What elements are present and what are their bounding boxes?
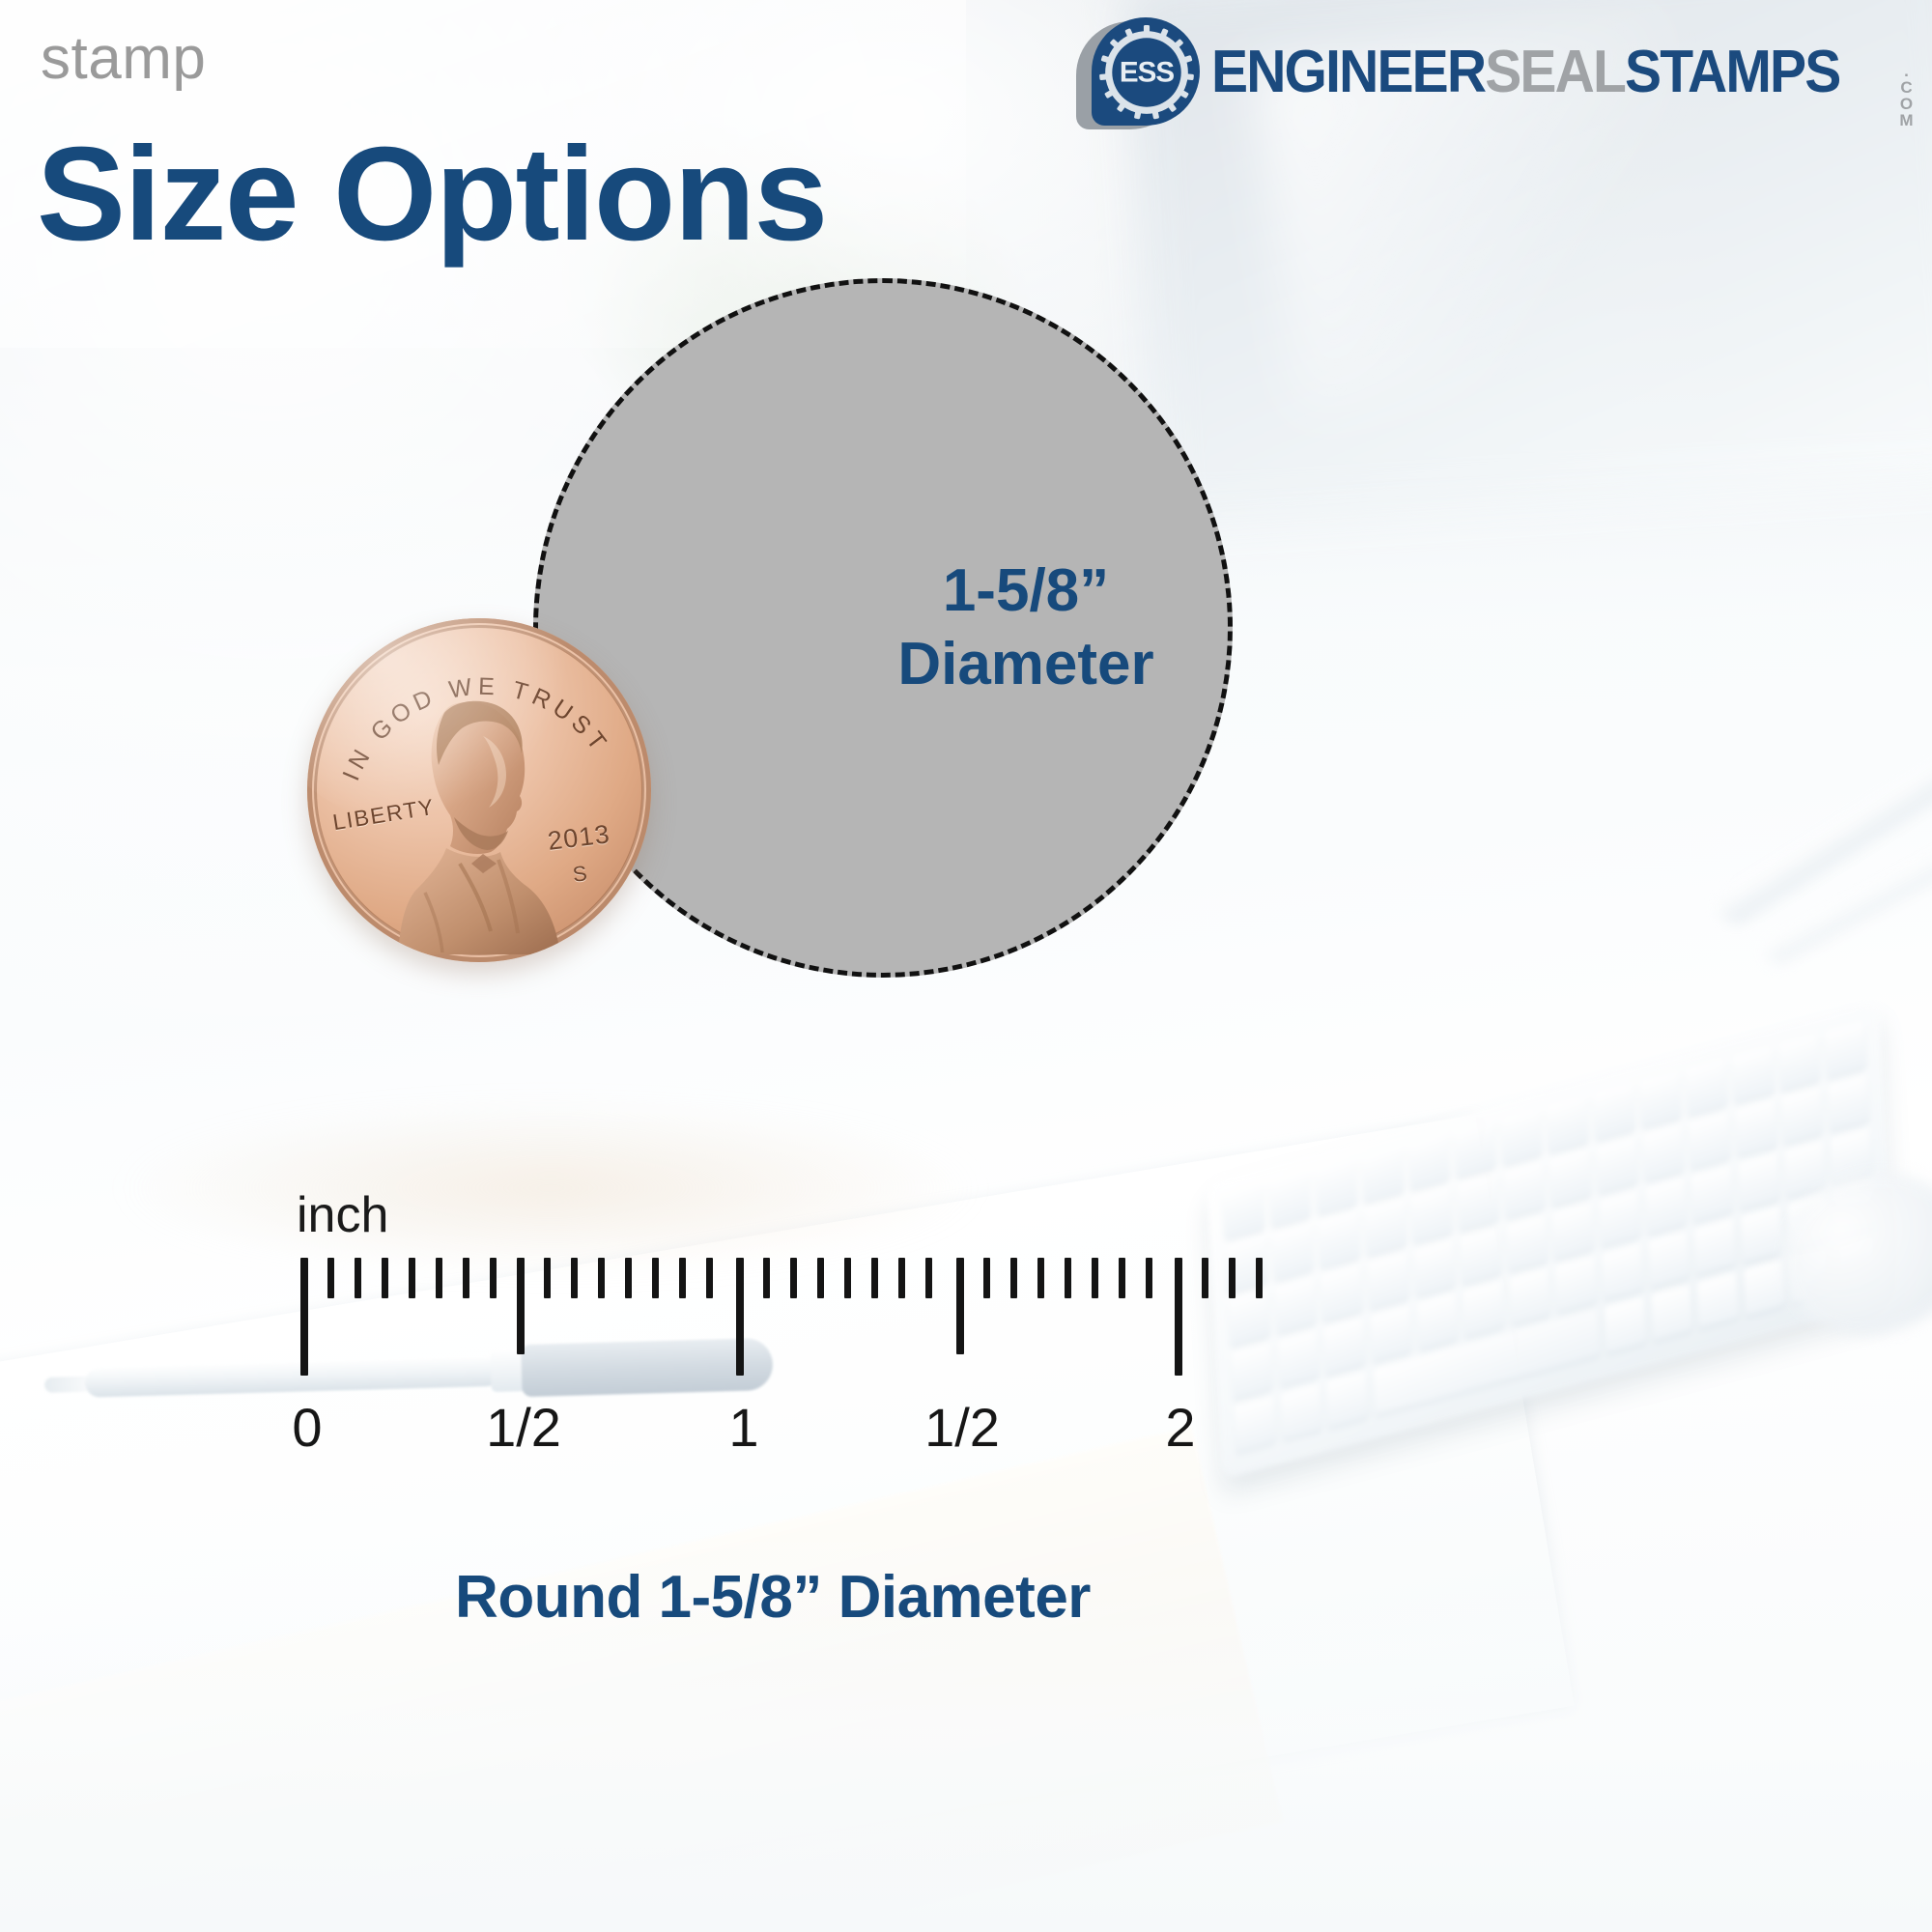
wordmark-seal: SEAL [1485, 43, 1625, 102]
ruler-tick-small [983, 1258, 990, 1298]
ruler-tick-small [1256, 1258, 1263, 1298]
ruler-tick-small [898, 1258, 905, 1298]
ruler-tick-half [517, 1258, 525, 1354]
ruler-tick-small [490, 1258, 497, 1298]
brand-logo[interactable]: ESS ENGINEERSEALSTAMPS .COM [1076, 15, 1915, 129]
ruler-tick-small [625, 1258, 632, 1298]
ruler-tick-small [544, 1258, 551, 1298]
ruler-tick-small [327, 1258, 334, 1298]
inch-ruler: inch 01/211/22 [0, 1198, 1932, 1507]
page-title: Size Options [37, 128, 827, 261]
ruler-tick-major [736, 1258, 744, 1376]
circle-diameter-label: Diameter [897, 628, 1153, 701]
wordmark-engineer: ENGINEER [1211, 43, 1485, 102]
gear-ring-icon: ESS [1097, 23, 1196, 122]
ruler-tick-small [1229, 1258, 1236, 1298]
circle-dimension-label: 1-5/8” [943, 554, 1109, 628]
size-options-graphic: stamp Size Options [0, 0, 1932, 1932]
ruler-tick-small [844, 1258, 851, 1298]
ruler-number-label: 0 [292, 1401, 322, 1455]
wordmark-stamps: STAMPS [1625, 43, 1839, 102]
ruler-tick-small [706, 1258, 713, 1298]
ess-badge-text: ESS [1120, 57, 1174, 89]
ruler-tick-small [652, 1258, 659, 1298]
wordmark-dotcom: .COM [1898, 62, 1915, 128]
ruler-tick-small [790, 1258, 797, 1298]
ruler-tick-small [355, 1258, 361, 1298]
penny-reference-coin: IN GOD WE TRUST [307, 618, 651, 962]
size-caption: Round 1-5/8” Diameter [0, 1563, 1546, 1632]
brand-wordmark: ENGINEERSEALSTAMPS [1211, 43, 1839, 102]
ruler-tick-small [1065, 1258, 1071, 1298]
ruler-tick-small [1037, 1258, 1044, 1298]
ruler-tick-small [409, 1258, 415, 1298]
ruler-tick-small [871, 1258, 878, 1298]
ruler-tick-small [763, 1258, 770, 1298]
ruler-tick-small [1119, 1258, 1125, 1298]
ruler-number-label: 2 [1165, 1401, 1195, 1455]
ruler-tick-half [956, 1258, 964, 1354]
ruler-number-label: 1 [728, 1401, 758, 1455]
ruler-tick-small [1146, 1258, 1152, 1298]
ruler-tick-small [817, 1258, 824, 1298]
ruler-tick-major [300, 1258, 308, 1376]
ruler-number-label: 1/2 [924, 1401, 1000, 1455]
ruler-tick-small [571, 1258, 578, 1298]
ruler-tick-small [463, 1258, 469, 1298]
kicker-label: stamp [41, 29, 206, 89]
ruler-tick-small [382, 1258, 388, 1298]
ruler-tick-small [436, 1258, 442, 1298]
ruler-tick-small [598, 1258, 605, 1298]
ruler-number-label: 1/2 [486, 1401, 561, 1455]
ruler-tick-small [1092, 1258, 1098, 1298]
ruler-tick-small [1202, 1258, 1208, 1298]
ruler-unit-label: inch [297, 1190, 388, 1240]
ruler-tick-major [1175, 1258, 1182, 1376]
ruler-tick-small [1010, 1258, 1017, 1298]
ess-badge-icon: ESS [1076, 15, 1200, 129]
ruler-tick-small [925, 1258, 932, 1298]
ruler-tick-small [679, 1258, 686, 1298]
